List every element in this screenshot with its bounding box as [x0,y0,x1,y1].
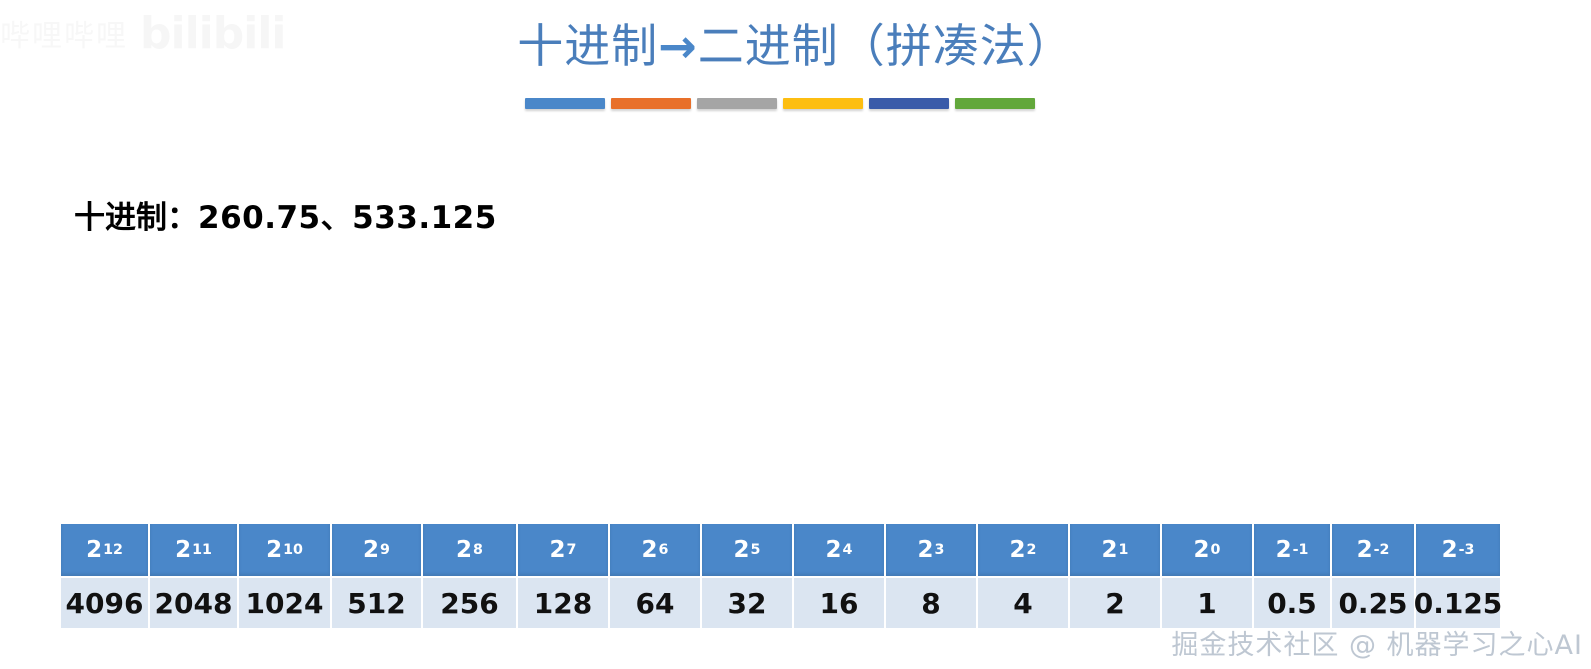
decimal-label: 十进制： [74,200,198,236]
decorative-bar-green [955,98,1035,109]
table-value-cell-0.5: 0.5 [1254,578,1332,628]
table-value-cell-4096: 4096 [61,578,150,628]
power-base: 2 [1194,537,1210,563]
table-value-cell-256: 256 [423,578,518,628]
table-value-cell-8: 8 [886,578,978,628]
table-header-cell-power-1: 21 [1070,524,1162,576]
page-title: 十进制→二进制（拼凑法） [0,16,1591,76]
table-value-cell-2: 2 [1070,578,1162,628]
table-value-cell-4: 4 [978,578,1070,628]
power-base: 2 [1276,537,1292,563]
power-base: 2 [642,537,658,563]
table-header-cell-power-7: 27 [518,524,610,576]
power-base: 2 [86,537,102,563]
power-base: 2 [826,537,842,563]
power-base: 2 [918,537,934,563]
table-header-cell-power-11: 211 [150,524,239,576]
table-header-cell-power-12: 212 [61,524,150,576]
table-header-cell-power-9: 29 [332,524,423,576]
table-value-cell-0.125: 0.125 [1416,578,1500,628]
power-base: 2 [550,537,566,563]
table-header-row: 212211210292827262524232221202-12-22-3 [61,524,1530,576]
title-left-text: 十进制 [517,19,658,73]
decorative-bar-row [525,98,1035,109]
table-header-cell-power-6: 26 [610,524,702,576]
table-header-cell-power-5: 25 [702,524,794,576]
table-header-cell-power-8: 28 [423,524,518,576]
table-header-cell-power-2: 22 [978,524,1070,576]
power-base: 2 [456,537,472,563]
power-base: 2 [734,537,750,563]
decorative-bar-yellow [783,98,863,109]
table-value-cell-16: 16 [794,578,886,628]
title-right-text: 二进制（拼凑法） [698,19,1074,73]
decorative-bar-dark-blue [869,98,949,109]
table-value-cell-1: 1 [1162,578,1254,628]
table-value-cell-128: 128 [518,578,610,628]
table-header-cell-power--1: 2-1 [1254,524,1332,576]
community-watermark: 掘金技术社区 @ 机器学习之心AI [1171,629,1583,663]
table-header-cell-power-3: 23 [886,524,978,576]
power-base: 2 [1442,537,1458,563]
table-value-row: 40962048102451225612864321684210.50.250.… [61,578,1530,628]
title-block: 十进制→二进制（拼凑法） [0,16,1591,76]
decorative-bar-blue [525,98,605,109]
power-base: 2 [363,537,379,563]
table-header-cell-power-4: 24 [794,524,886,576]
table-value-cell-1024: 1024 [239,578,332,628]
table-value-cell-2048: 2048 [150,578,239,628]
decorative-bar-orange [611,98,691,109]
table-value-cell-64: 64 [610,578,702,628]
right-arrow-icon: → [658,19,698,73]
decorative-bar-gray [697,98,777,109]
table-value-cell-0.25: 0.25 [1332,578,1416,628]
table-header-cell-power-10: 210 [239,524,332,576]
power-base: 2 [175,537,191,563]
table-value-cell-32: 32 [702,578,794,628]
table-value-cell-512: 512 [332,578,423,628]
powers-of-two-table: 212211210292827262524232221202-12-22-3 4… [61,524,1530,628]
power-base: 2 [1010,537,1026,563]
table-header-cell-power--2: 2-2 [1332,524,1416,576]
power-base: 2 [1102,537,1118,563]
decimal-values: 260.75、533.125 [198,200,497,236]
power-base: 2 [1357,537,1373,563]
decimal-example-line: 十进制：260.75、533.125 [74,196,497,240]
power-base: 2 [266,537,282,563]
table-header-cell-power-0: 20 [1162,524,1254,576]
table-header-cell-power--3: 2-3 [1416,524,1500,576]
